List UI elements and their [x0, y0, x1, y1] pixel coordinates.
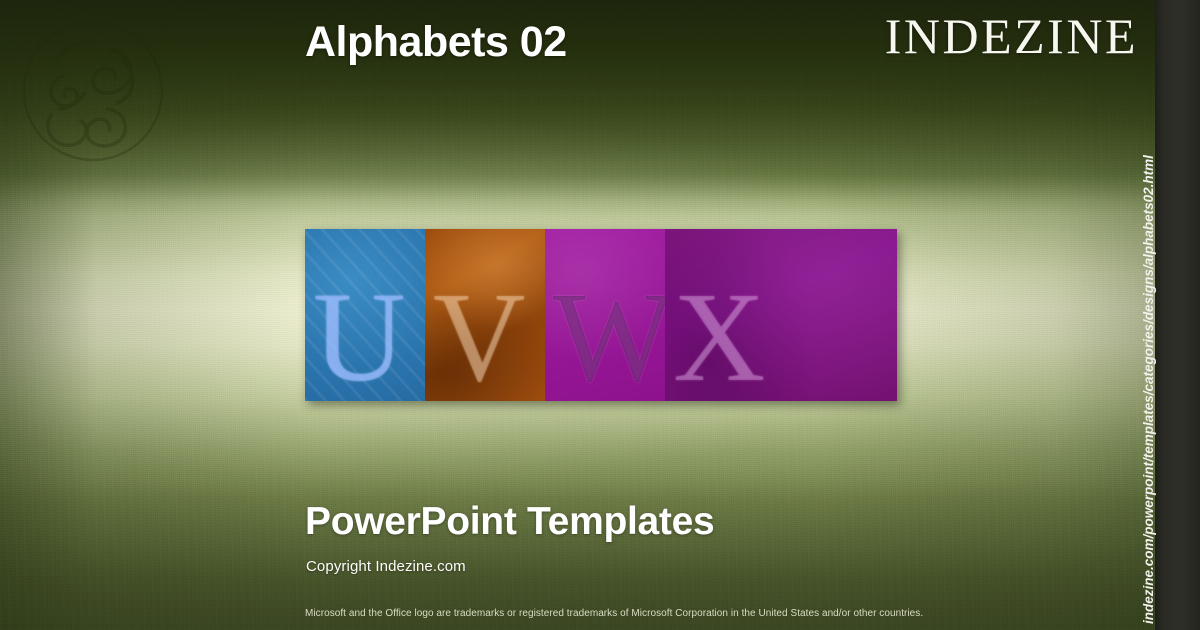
copyright-text: Copyright Indezine.com: [306, 558, 466, 575]
tile-letter-w: W: [553, 273, 665, 401]
alphabet-tile[interactable]: V: [425, 229, 545, 401]
alphabet-tile[interactable]: X: [665, 229, 897, 401]
slide-canvas: Alphabets 02 INDEZINE indezine.com/power…: [0, 0, 1200, 630]
url-rail: indezine.com/powerpoint/templates/catego…: [1155, 0, 1200, 630]
tile-letter-u: U: [313, 273, 405, 401]
page-title: Alphabets 02: [305, 18, 567, 67]
footer-title: PowerPoint Templates: [305, 500, 714, 544]
alphabet-tile-strip: U V W X: [305, 229, 897, 401]
tile-letter-v: V: [433, 273, 525, 401]
alphabet-tile[interactable]: U: [305, 229, 425, 401]
trademark-disclaimer: Microsoft and the Office logo are tradem…: [305, 608, 923, 619]
template-url[interactable]: indezine.com/powerpoint/templates/catego…: [1138, 4, 1159, 624]
alphabet-tile[interactable]: W: [545, 229, 665, 401]
tile-letter-x: X: [673, 273, 765, 401]
indezine-logo: INDEZINE: [885, 11, 1138, 61]
celtic-spiral-ornament: [18, 16, 168, 166]
